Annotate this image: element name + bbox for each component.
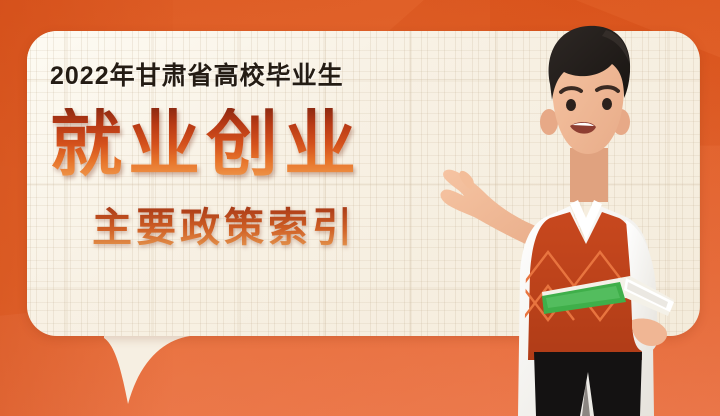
character-head <box>540 26 630 154</box>
poster-text-block: 2022年甘肃省高校毕业生 就业创业 主要政策索引 <box>50 56 450 253</box>
character-eye-right <box>602 98 612 110</box>
speech-bubble-tail <box>104 330 190 404</box>
poster-subtitle: 2022年甘肃省高校毕业生 <box>50 56 450 92</box>
character-neck <box>570 148 608 202</box>
character-eye-left <box>566 99 576 111</box>
poster-subhead: 主要政策索引 <box>92 195 450 253</box>
poster-canvas: 2022年甘肃省高校毕业生 就业创业 主要政策索引 <box>0 0 720 416</box>
student-character-illustration <box>430 20 720 416</box>
poster-headline: 就业创业 <box>50 108 450 183</box>
